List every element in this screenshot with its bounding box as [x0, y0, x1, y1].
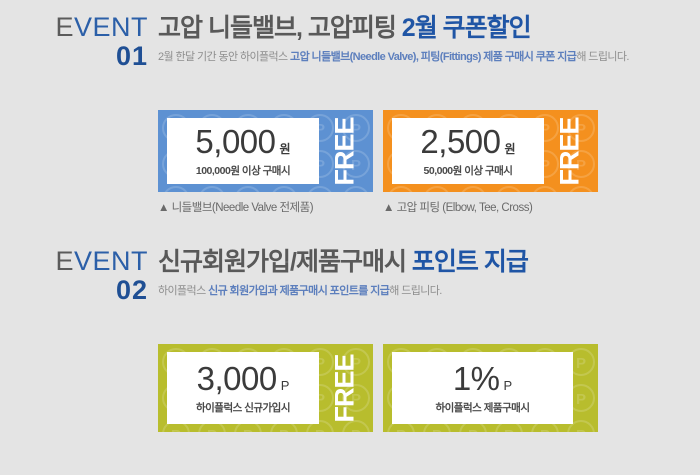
free-coupon-strip: FREE COUPON: [546, 118, 592, 184]
event-word: EVENT: [0, 248, 148, 275]
coupon-inner-panel: 3,000 P 하이플럭스 신규가입시: [167, 352, 319, 424]
event-body-01: 고압 니들밸브, 고압피팅 2월 쿠폰할인 2월 한달 기간 동안 하이플럭스 …: [158, 14, 698, 64]
event-subtitle-02: 하이플럭스 신규 회원가입과 제품구매시 포인트를 지급해 드립니다.: [158, 282, 698, 298]
coupon-amount-number: 3,000: [197, 362, 277, 395]
coupon-card-fittings[interactable]: P 2,500 원 50,000원 이상 구매시 FREE COUPON: [383, 110, 598, 215]
event-sub-highlight: 고압 니들밸브(Needle Valve), 피팅(Fittings) 제품 구…: [290, 51, 576, 63]
event-sub-part1: 2월 한달 기간 동안 하이플럭스: [158, 51, 290, 63]
free-label: FREE: [331, 354, 358, 422]
event-word-first-letter: E: [55, 12, 74, 42]
coupon-amount: 1% P: [453, 362, 512, 395]
promo-page: EVENT 01 고압 니들밸브, 고압피팅 2월 쿠폰할인 2월 한달 기간 …: [0, 0, 700, 475]
event-word-rest: VENT: [74, 246, 148, 276]
coupon-amount-number: 5,000: [195, 125, 275, 158]
coupon-condition: 하이플럭스 제품구매시: [435, 400, 529, 415]
coupon-card-needle-valve[interactable]: P 5,000 원 100,000원 이상 구매시 FREE COUPO: [158, 110, 373, 215]
coupon-amount: 5,000 원: [195, 125, 290, 158]
event-sub-highlight: 신규 회원가입과 제품구매시 포인트를 지급: [208, 285, 389, 297]
free-label: FREE: [556, 117, 583, 185]
coupon-inner-panel: 1% P 하이플럭스 제품구매시: [392, 352, 573, 424]
coupon-amount-unit: 원: [280, 143, 291, 155]
event-subtitle-01: 2월 한달 기간 동안 하이플럭스 고압 니들밸브(Needle Valve),…: [158, 48, 698, 64]
free-coupon-strip: FREE COUPON: [321, 118, 367, 184]
coupon-condition: 50,000원 이상 구매시: [424, 163, 513, 178]
event-word-first-letter: E: [55, 246, 74, 276]
coupon-condition: 100,000원 이상 구매시: [196, 163, 290, 178]
coupon-olive-signup[interactable]: P 3,000 P 하이플럭스 신규가입시 FREE COUPON: [158, 344, 373, 432]
coupon-caption: ▲ 고압 피팅 (Elbow, Tee, Cross): [383, 199, 598, 215]
event-label-01: EVENT 01: [0, 14, 148, 70]
coupon-olive-purchase[interactable]: P 1% P 하이플럭스 제품구매시: [383, 344, 598, 432]
event-title-highlight: 포인트 지급: [412, 248, 528, 276]
event-title-highlight: 2월 쿠폰할인: [402, 14, 531, 42]
event-title-plain: 신규회원가입/제품구매시: [158, 248, 412, 276]
free-label: FREE: [331, 117, 358, 185]
coupon-amount-number: 1%: [453, 362, 500, 395]
coupon-amount-number: 2,500: [420, 125, 500, 158]
coupon-amount-unit: P: [281, 379, 290, 392]
event-number: 01: [0, 43, 148, 70]
event-sub-part1: 하이플럭스: [158, 285, 208, 297]
free-coupon-strip: FREE COUPON: [321, 352, 367, 424]
event-word: EVENT: [0, 14, 148, 41]
event-title-plain: 고압 니들밸브, 고압피팅: [158, 14, 402, 42]
coupon-caption: ▲ 니들밸브(Needle Valve 전제품): [158, 199, 373, 215]
coupon-inner-panel: 5,000 원 100,000원 이상 구매시: [167, 118, 319, 184]
event-body-02: 신규회원가입/제품구매시 포인트 지급 하이플럭스 신규 회원가입과 제품구매시…: [158, 248, 698, 298]
coupon-condition: 하이플럭스 신규가입시: [196, 400, 290, 415]
coupon-amount-unit: 원: [505, 143, 516, 155]
coupon-amount: 2,500 원: [420, 125, 515, 158]
event-sub-part2: 해 드립니다.: [576, 51, 629, 63]
coupon-inner-panel: 2,500 원 50,000원 이상 구매시: [392, 118, 544, 184]
coupon-amount: 3,000 P: [197, 362, 290, 395]
event-title-01: 고압 니들밸브, 고압피팅 2월 쿠폰할인: [158, 14, 698, 42]
coupon-card-signup-point[interactable]: P 3,000 P 하이플럭스 신규가입시 FREE COUPON: [158, 344, 373, 439]
event-title-02: 신규회원가입/제품구매시 포인트 지급: [158, 248, 698, 276]
coupon-amount-unit: P: [504, 379, 513, 392]
event-word-rest: VENT: [74, 12, 148, 42]
event-number: 02: [0, 277, 148, 304]
coupon-blue[interactable]: P 5,000 원 100,000원 이상 구매시 FREE COUPO: [158, 110, 373, 192]
coupon-orange[interactable]: P 2,500 원 50,000원 이상 구매시 FREE COUPON: [383, 110, 598, 192]
coupon-card-purchase-point[interactable]: P 1% P 하이플럭스 제품구매시: [383, 344, 598, 439]
event-sub-part2: 해 드립니다.: [389, 285, 442, 297]
event-label-02: EVENT 02: [0, 248, 148, 304]
